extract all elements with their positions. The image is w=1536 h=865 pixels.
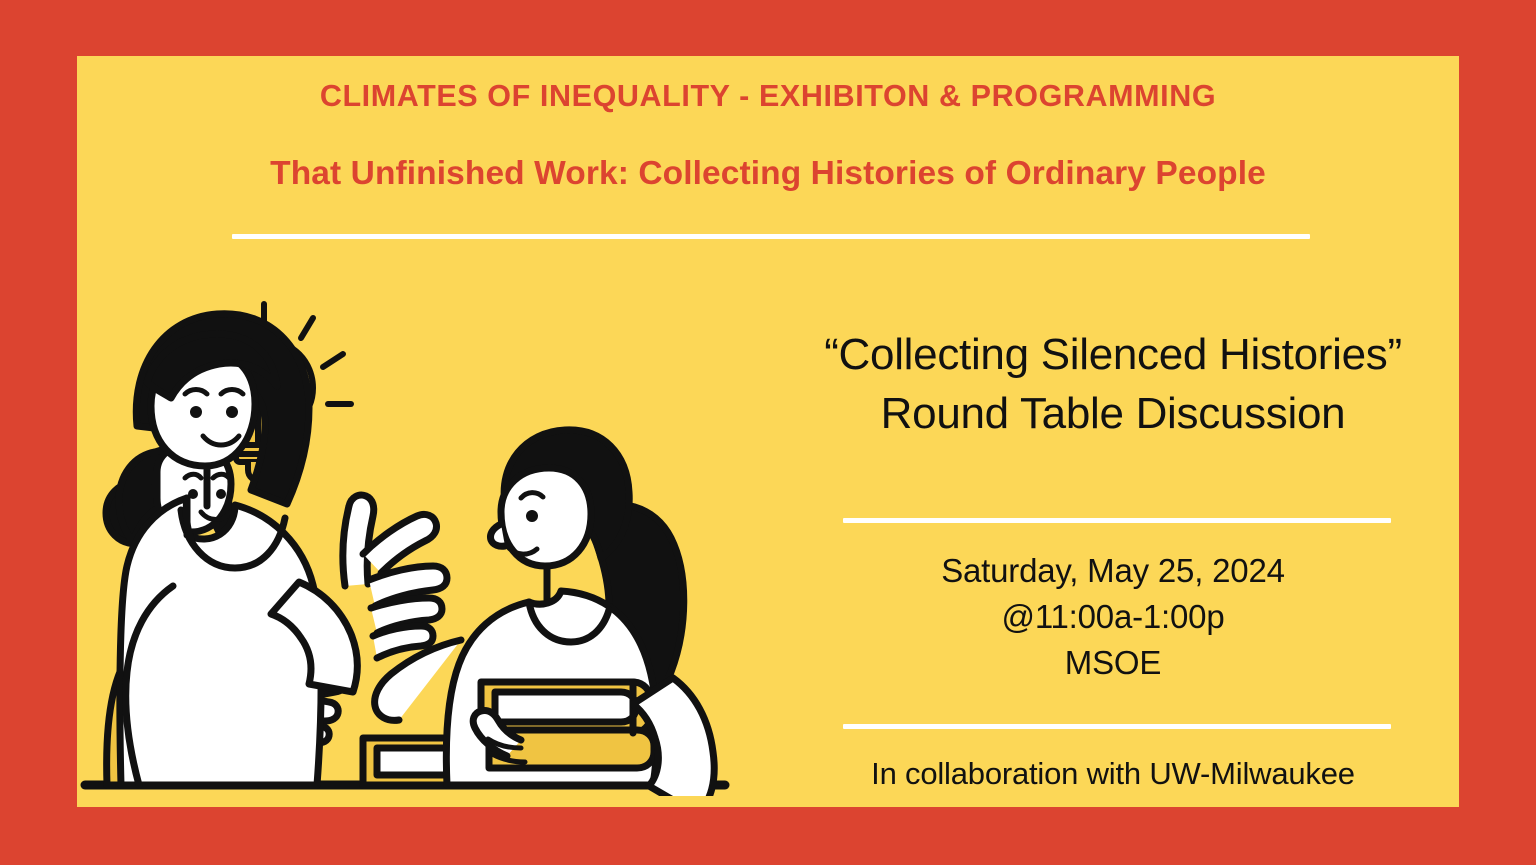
headline-kicker: CLIMATES OF INEQUALITY - EXHIBITON & PRO…	[77, 78, 1459, 115]
collaboration-block: In collaboration with UW-Milwaukee	[767, 754, 1459, 794]
event-flyer: CLIMATES OF INEQUALITY - EXHIBITON & PRO…	[0, 0, 1536, 865]
headline-divider	[232, 234, 1310, 239]
event-date: Saturday, May 25, 2024	[767, 548, 1459, 594]
details-divider-top	[843, 518, 1391, 523]
open-hand-gesture	[343, 495, 447, 658]
event-title-line-2: Round Table Discussion	[767, 385, 1459, 444]
event-venue: MSOE	[767, 640, 1459, 686]
details-divider-bottom	[843, 724, 1391, 729]
details-block: Saturday, May 25, 2024 @11:00a-1:00p MSO…	[767, 548, 1459, 687]
flyer-panel: CLIMATES OF INEQUALITY - EXHIBITON & PRO…	[77, 56, 1459, 807]
event-details-column: “Collecting Silenced Histories” Round Ta…	[767, 326, 1459, 443]
illustration-svg	[77, 286, 777, 796]
headline-title: That Unfinished Work: Collecting Histori…	[77, 154, 1459, 194]
collaboration-note: In collaboration with UW-Milwaukee	[767, 754, 1459, 794]
event-title-line-1: “Collecting Silenced Histories”	[767, 326, 1459, 385]
three-women-discussion-illustration	[77, 286, 777, 796]
headline-block: CLIMATES OF INEQUALITY - EXHIBITON & PRO…	[77, 78, 1459, 194]
event-time: @11:00a-1:00p	[767, 594, 1459, 640]
